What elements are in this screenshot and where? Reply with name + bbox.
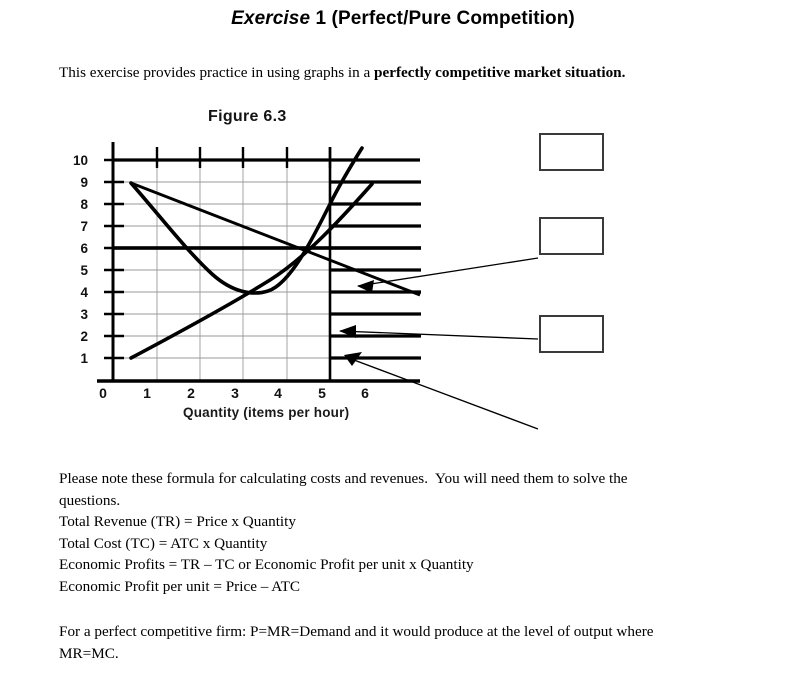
leader-line-3 — [346, 357, 538, 429]
top-ticks — [157, 147, 330, 168]
closing-note-block: For a perfect competitive firm: P=MR=Dem… — [59, 621, 789, 664]
formula-line-1: questions. — [59, 490, 789, 512]
page-title-emphasis: Exercise — [231, 8, 310, 29]
figure-region: Figure 6.3 Price or Cost (per item) Quan… — [0, 100, 806, 440]
formula-line-0: Please note these formula for calculatin… — [59, 468, 789, 490]
intro-text-plain: This exercise provides practice in using… — [59, 64, 374, 81]
closing-line-1: MR=MC. — [59, 643, 789, 665]
answer-box-3[interactable] — [539, 315, 604, 353]
atc-curve — [131, 148, 362, 293]
chart-canvas — [0, 100, 806, 440]
intro-paragraph: This exercise provides practice in using… — [59, 63, 769, 82]
grid-right-stubs — [113, 160, 421, 358]
formula-line-3: Total Cost (TC) = ATC x Quantity — [59, 533, 789, 555]
answer-box-2[interactable] — [539, 217, 604, 255]
answer-box-1[interactable] — [539, 133, 604, 171]
page-title-rest: 1 (Perfect/Pure Competition) — [310, 8, 575, 29]
formula-line-5: Economic Profit per unit = Price – ATC — [59, 576, 789, 598]
formula-line-4: Economic Profits = TR – TC or Economic P… — [59, 554, 789, 576]
formula-note-block: Please note these formula for calculatin… — [59, 468, 789, 597]
closing-line-0: For a perfect competitive firm: P=MR=Dem… — [59, 621, 789, 643]
leader-line-1 — [358, 258, 538, 286]
intro-text-bold: perfectly competitive market situation. — [374, 64, 625, 81]
page-title: Exercise 1 (Perfect/Pure Competition) — [0, 8, 806, 30]
formula-line-2: Total Revenue (TR) = Price x Quantity — [59, 511, 789, 533]
